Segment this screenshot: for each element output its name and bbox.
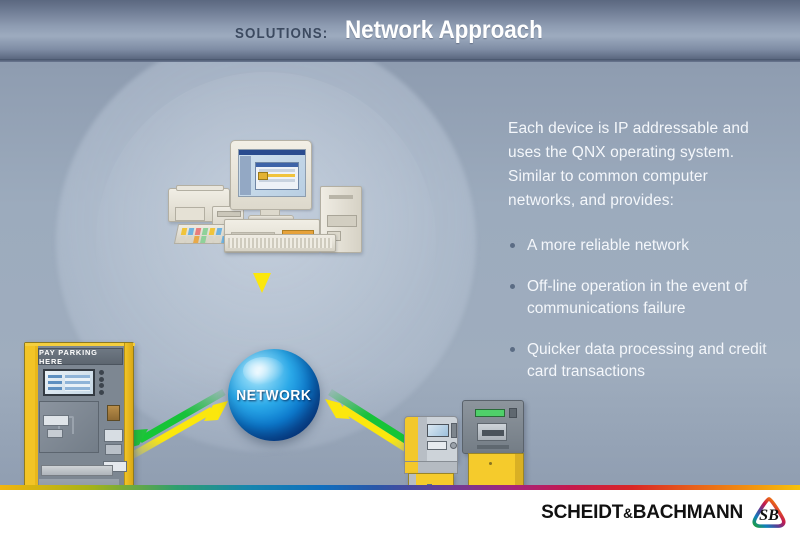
screen-sidebar: [240, 156, 251, 195]
slide-footer: SCHEIDT&BACHMANN SB: [0, 490, 800, 533]
pay-station-buttons: [99, 369, 108, 396]
printer-tray: [176, 185, 224, 191]
brand-main: SCHEIDT: [541, 502, 623, 523]
list-item-label: Off-line operation in the event of commu…: [527, 278, 747, 317]
coin-return: [105, 444, 122, 455]
entry-terminal-head: [404, 416, 458, 462]
ticket-slot: [43, 415, 69, 426]
brand-amp: &: [623, 506, 633, 521]
exit-terminal-label: [477, 445, 509, 449]
exit-terminal-body: [468, 453, 524, 485]
list-item-label: A more reliable network: [527, 237, 689, 254]
exit-terminal-head: [462, 400, 524, 454]
exit-terminal-button: [509, 408, 517, 418]
pay-station-door-panel: [39, 401, 99, 453]
entry-exit-terminals: [400, 400, 560, 485]
pay-on-foot-station: PAY PARKING HERE: [24, 342, 144, 485]
intro-paragraph: Each device is IP addressable and uses t…: [508, 117, 778, 213]
bullet-list: A more reliable network Off-line operati…: [508, 235, 778, 383]
pay-station-top-trim: [25, 343, 135, 346]
entry-terminal-ticket-slot: [427, 441, 447, 450]
bullet-dot-icon: [510, 284, 515, 289]
coin-slot: [104, 429, 123, 442]
keyboard-keys: [228, 238, 332, 248]
network-hub-sphere: NETWORK: [228, 349, 320, 441]
entry-terminal: [404, 416, 458, 485]
change-tray: [41, 465, 113, 476]
list-item: A more reliable network: [508, 235, 778, 257]
pay-station-sign-label: PAY PARKING HERE: [39, 348, 122, 366]
monitor-screen: [238, 149, 306, 197]
slide: SOLUTIONS: Network Approach: [0, 0, 800, 533]
slide-body: NETWORK: [0, 62, 800, 485]
pay-station-cabinet: PAY PARKING HERE: [24, 342, 134, 485]
ticket-slot-lower: [47, 429, 63, 438]
tower-label: [329, 195, 353, 199]
entry-terminal-screen: [427, 424, 449, 437]
pay-station-sign: PAY PARKING HERE: [38, 348, 123, 365]
list-item: Off-line operation in the event of commu…: [508, 276, 778, 320]
list-item-label: Quicker data processing and credit card …: [527, 341, 767, 380]
back-office-computer-group: [168, 140, 368, 255]
slide-header: SOLUTIONS: Network Approach: [0, 0, 800, 62]
entry-terminal-button: [451, 423, 457, 438]
tower-drive: [327, 215, 357, 227]
screen-content: [65, 375, 90, 391]
header-kicker: SOLUTIONS:: [235, 26, 328, 42]
sb-emblem-text: SB: [759, 507, 779, 524]
crt-monitor-icon: [230, 140, 312, 210]
entry-terminal-knob: [450, 442, 457, 449]
window-titlebar: [256, 163, 298, 167]
pay-station-screen: [43, 369, 95, 396]
content-text-column: Each device is IP addressable and uses t…: [508, 117, 778, 402]
brand-wordmark: SCHEIDT&BACHMANN: [541, 502, 743, 524]
brand-second: BACHMANN: [633, 502, 743, 523]
brand-logo: SCHEIDT&BACHMANN SB: [541, 497, 786, 528]
exit-terminal-display: [475, 409, 505, 417]
card-slot: [482, 430, 504, 436]
page-title: Network Approach: [345, 16, 543, 45]
list-item: Quicker data processing and credit card …: [508, 339, 778, 383]
network-hub-label: NETWORK: [236, 387, 311, 404]
entry-terminal-body: [408, 473, 454, 485]
exit-terminal: [462, 400, 524, 485]
header-title-group: SOLUTIONS: Network Approach: [235, 16, 565, 45]
exit-terminal-lock: [489, 462, 492, 465]
printer-output: [175, 207, 205, 221]
folder-icon: [258, 172, 268, 180]
bullet-dot-icon: [510, 243, 515, 248]
receipt-slot: [217, 211, 241, 217]
screen-titlebar: [239, 150, 305, 155]
keyboard-icon: [224, 234, 336, 252]
bullet-dot-icon: [510, 347, 515, 352]
card-reader: [107, 405, 120, 421]
sb-emblem-icon: SB: [752, 497, 786, 528]
exit-terminal-card-reader: [477, 423, 507, 441]
